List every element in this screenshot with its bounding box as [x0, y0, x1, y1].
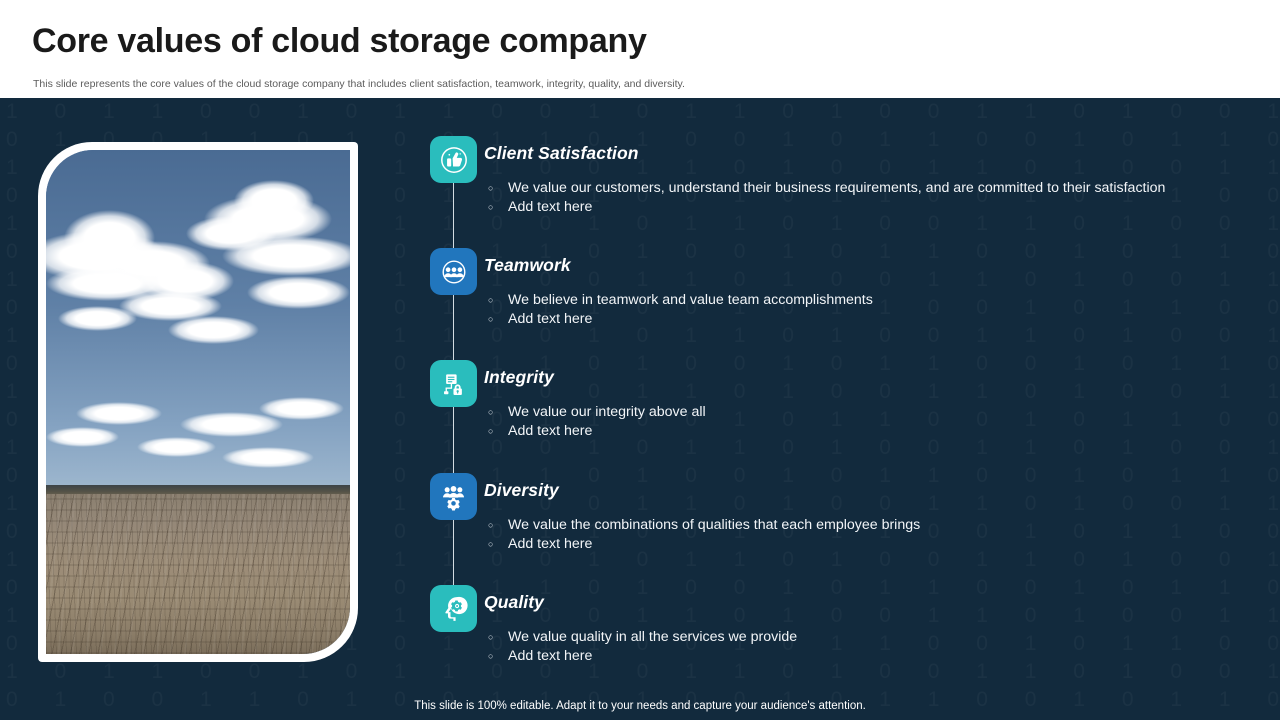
value-bullets: We value the combinations of qualities t…	[486, 516, 920, 554]
document-lock-icon	[440, 370, 468, 398]
cloud-shape	[259, 397, 344, 420]
value-icon-tile	[430, 136, 477, 183]
list-item: We believe in teamwork and value team ac…	[486, 291, 873, 310]
list-item: We value our integrity above all	[486, 403, 706, 422]
list-item: We value our customers, understand their…	[486, 179, 1165, 198]
head-gear-icon	[439, 594, 468, 623]
people-gear-icon	[439, 482, 468, 511]
binary-row: 1 0 1 1 0 0 1 0 1 1 0 0 1 0 1 1 0 1 0 0 …	[0, 98, 1280, 126]
slide-footer: This slide is 100% editable. Adapt it to…	[0, 700, 1280, 712]
value-title: Integrity	[484, 367, 554, 388]
field-layer	[46, 494, 350, 654]
list-item: We value quality in all the services we …	[486, 628, 797, 647]
list-item: Add text here	[486, 535, 920, 554]
photo-clouds-field	[46, 150, 350, 654]
field-texture	[46, 494, 350, 654]
value-title: Teamwork	[484, 255, 571, 276]
value-title: Quality	[484, 592, 544, 613]
value-bullets: We believe in teamwork and value team ac…	[486, 291, 873, 329]
list-item: We value the combinations of qualities t…	[486, 516, 920, 535]
value-title: Diversity	[484, 480, 559, 501]
list-item: Add text here	[486, 198, 1165, 217]
value-title: Client Satisfaction	[484, 143, 639, 164]
cloud-shape	[222, 236, 350, 276]
list-item: Add text here	[486, 647, 797, 666]
photo-frame	[38, 142, 358, 662]
slide-header: Core values of cloud storage company Thi…	[0, 0, 1280, 98]
value-bullets: We value our customers, understand their…	[486, 179, 1165, 217]
page-subtitle: This slide represents the core values of…	[33, 78, 685, 90]
value-icon-tile	[430, 585, 477, 632]
page-title: Core values of cloud storage company	[32, 22, 647, 61]
cloud-shape	[247, 276, 350, 309]
value-icon-tile	[430, 248, 477, 295]
value-bullets: We value quality in all the services we …	[486, 628, 797, 666]
thumbs-up-icon	[439, 145, 469, 175]
slide: 1 0 1 1 0 0 1 0 1 1 0 0 1 0 1 1 0 1 0 0 …	[0, 0, 1280, 720]
cloud-shape	[76, 402, 161, 425]
cloud-shape	[234, 180, 313, 220]
list-item: Add text here	[486, 310, 873, 329]
cloud-shape	[222, 447, 313, 467]
value-icon-tile	[430, 473, 477, 520]
value-bullets: We value our integrity above all Add tex…	[486, 403, 706, 441]
value-icon-tile	[430, 360, 477, 407]
team-people-icon	[439, 257, 469, 287]
cloud-shape	[168, 316, 259, 344]
list-item: Add text here	[486, 422, 706, 441]
